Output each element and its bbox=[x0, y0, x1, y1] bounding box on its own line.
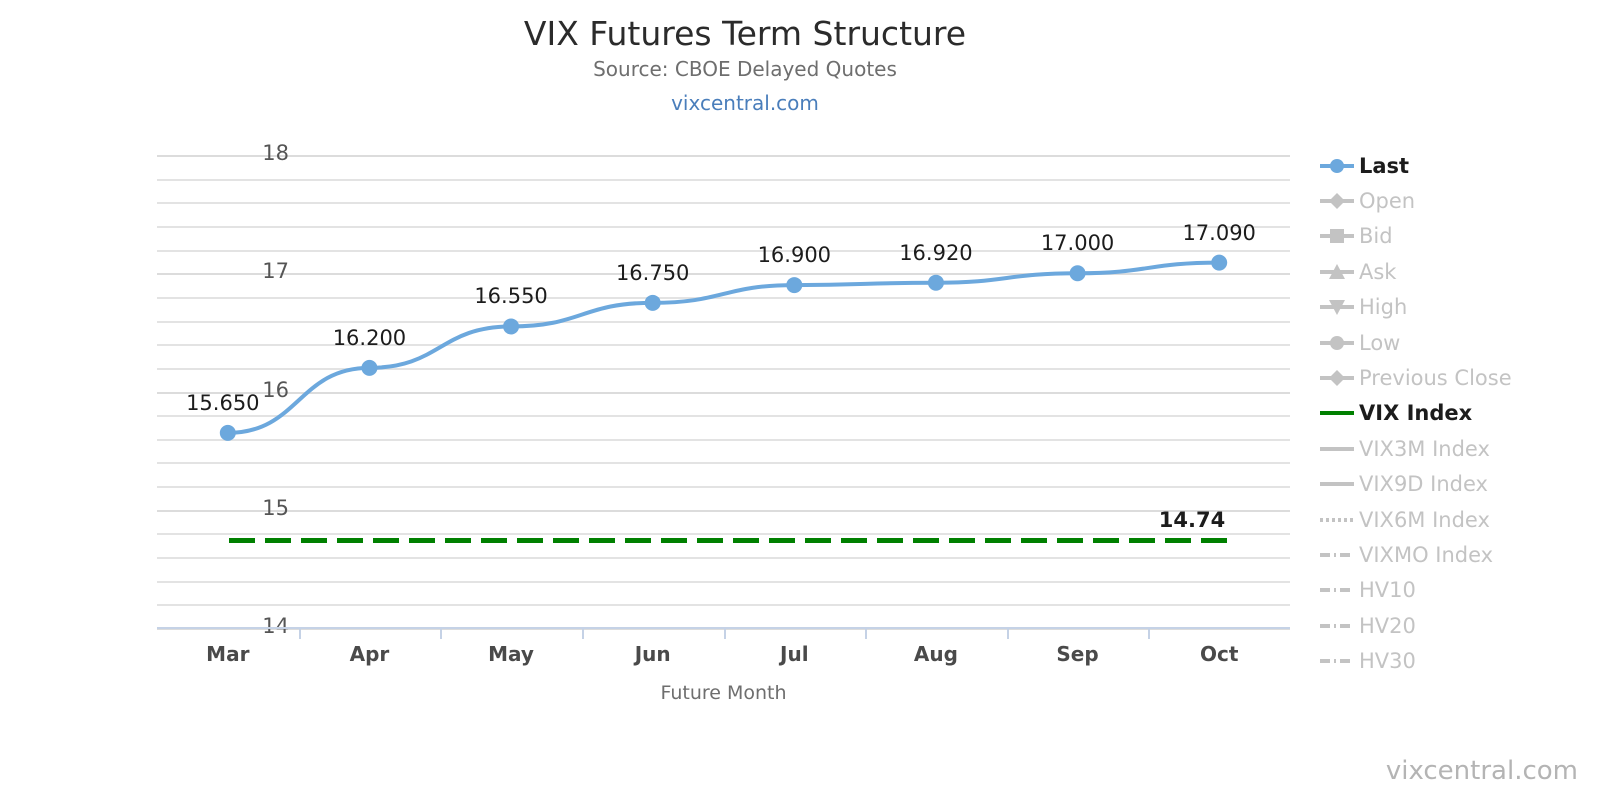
y-axis-tick-label: 15 bbox=[229, 496, 289, 520]
gridline-minor bbox=[157, 297, 1290, 299]
x-axis-tick-label: Jun bbox=[578, 642, 728, 666]
legend-item-hv20[interactable]: HV20 bbox=[1318, 608, 1600, 643]
x-axis-tick-label: Apr bbox=[294, 642, 444, 666]
legend-item-label: Previous Close bbox=[1359, 366, 1512, 390]
x-axis-tick bbox=[724, 628, 726, 639]
legend-item-vix-index[interactable]: VIX Index bbox=[1318, 396, 1600, 431]
chart-subtitle: Source: CBOE Delayed Quotes bbox=[0, 56, 1490, 82]
x-axis-tick bbox=[865, 628, 867, 639]
diamond-marker-line-icon bbox=[1318, 189, 1356, 213]
data-point-label: 16.750 bbox=[573, 261, 733, 285]
legend-item-label: Low bbox=[1359, 331, 1400, 355]
solid-line-icon bbox=[1318, 437, 1356, 461]
gridline-major bbox=[157, 392, 1290, 394]
gridline-minor bbox=[157, 533, 1290, 535]
legend-item-label: High bbox=[1359, 295, 1407, 319]
chart-header: VIX Futures Term Structure Source: CBOE … bbox=[0, 0, 1490, 116]
y-axis-tick-label: 17 bbox=[229, 259, 289, 283]
page-title: VIX Futures Term Structure bbox=[0, 14, 1490, 54]
dash-dot-line-icon bbox=[1318, 614, 1356, 638]
legend-item-last[interactable]: Last bbox=[1318, 148, 1600, 183]
legend-item-label: VIXMO Index bbox=[1359, 543, 1493, 567]
dash-dot-line-icon bbox=[1318, 578, 1356, 602]
legend-item-label: VIX6M Index bbox=[1359, 508, 1490, 532]
legend-item-label: HV10 bbox=[1359, 578, 1416, 602]
y-axis-tick-label: 14 bbox=[229, 614, 289, 638]
data-point-label: 17.090 bbox=[1139, 221, 1299, 245]
legend-item-label: Bid bbox=[1359, 224, 1393, 248]
legend-item-vix6m-index[interactable]: VIX6M Index bbox=[1318, 502, 1600, 537]
gridline-minor bbox=[157, 462, 1290, 464]
data-point-label: 16.550 bbox=[431, 284, 591, 308]
x-axis-tick-label: Oct bbox=[1144, 642, 1294, 666]
legend-item-high[interactable]: High bbox=[1318, 290, 1600, 325]
gridline-minor bbox=[157, 321, 1290, 323]
data-point-label: 16.920 bbox=[856, 241, 1016, 265]
vix-index-value-label: 14.74 bbox=[1112, 508, 1272, 532]
triangle-down-marker-line-icon bbox=[1318, 295, 1356, 319]
legend: LastOpenBidAskHighLowPrevious CloseVIX I… bbox=[1318, 148, 1600, 679]
triangle-up-marker-line-icon bbox=[1318, 260, 1356, 284]
gridline-minor bbox=[157, 604, 1290, 606]
legend-item-previous-close[interactable]: Previous Close bbox=[1318, 360, 1600, 395]
gridline-minor bbox=[157, 202, 1290, 204]
gridline-major bbox=[157, 155, 1290, 157]
square-marker-line-icon bbox=[1318, 224, 1356, 248]
x-axis-tick bbox=[582, 628, 584, 639]
gridline-minor bbox=[157, 179, 1290, 181]
legend-item-open[interactable]: Open bbox=[1318, 183, 1600, 218]
dash-dot-line-icon bbox=[1318, 543, 1356, 567]
circle-marker-line-icon bbox=[1318, 331, 1356, 355]
legend-item-label: VIX3M Index bbox=[1359, 437, 1490, 461]
gridline-minor bbox=[157, 439, 1290, 441]
x-axis-tick bbox=[440, 628, 442, 639]
x-axis-tick bbox=[299, 628, 301, 639]
y-axis-tick-label: 18 bbox=[229, 141, 289, 165]
data-point-label: 17.000 bbox=[998, 231, 1158, 255]
data-point-label: 16.200 bbox=[289, 326, 449, 350]
gridline-minor bbox=[157, 581, 1290, 583]
legend-item-label: VIX9D Index bbox=[1359, 472, 1488, 496]
gridline-minor bbox=[157, 486, 1290, 488]
legend-item-low[interactable]: Low bbox=[1318, 325, 1600, 360]
x-axis-tick-label: Aug bbox=[861, 642, 1011, 666]
x-axis-tick-label: Sep bbox=[1003, 642, 1153, 666]
legend-item-label: Last bbox=[1359, 154, 1409, 178]
legend-item-label: Ask bbox=[1359, 260, 1396, 284]
x-axis-tick bbox=[1148, 628, 1150, 639]
gridline-minor bbox=[157, 557, 1290, 559]
plot-area bbox=[157, 155, 1290, 628]
legend-item-vix3m-index[interactable]: VIX3M Index bbox=[1318, 431, 1600, 466]
solid-line-icon bbox=[1318, 401, 1356, 425]
data-point-label: 15.650 bbox=[143, 391, 303, 415]
x-axis-tick bbox=[1007, 628, 1009, 639]
legend-item-bid[interactable]: Bid bbox=[1318, 219, 1600, 254]
diamond-marker-line-icon bbox=[1318, 366, 1356, 390]
dotted-line-icon bbox=[1318, 508, 1356, 532]
legend-item-label: HV20 bbox=[1359, 614, 1416, 638]
source-link[interactable]: vixcentral.com bbox=[671, 90, 819, 116]
x-axis-title: Future Month bbox=[157, 682, 1290, 704]
x-axis-tick-label: May bbox=[436, 642, 586, 666]
legend-item-ask[interactable]: Ask bbox=[1318, 254, 1600, 289]
gridline-minor bbox=[157, 415, 1290, 417]
legend-item-vix9d-index[interactable]: VIX9D Index bbox=[1318, 467, 1600, 502]
gridline-minor bbox=[157, 226, 1290, 228]
dash-dot-line-icon bbox=[1318, 649, 1356, 673]
data-point-label: 16.900 bbox=[714, 243, 874, 267]
x-axis-tick-label: Jul bbox=[719, 642, 869, 666]
legend-item-label: VIX Index bbox=[1359, 401, 1472, 425]
legend-item-label: Open bbox=[1359, 189, 1415, 213]
solid-line-icon bbox=[1318, 472, 1356, 496]
legend-item-label: HV30 bbox=[1359, 649, 1416, 673]
gridline-minor bbox=[157, 368, 1290, 370]
legend-item-hv10[interactable]: HV10 bbox=[1318, 573, 1600, 608]
legend-item-hv30[interactable]: HV30 bbox=[1318, 643, 1600, 678]
circle-marker-line-icon bbox=[1318, 154, 1356, 178]
x-axis-tick-label: Mar bbox=[153, 642, 303, 666]
legend-item-vixmo-index[interactable]: VIXMO Index bbox=[1318, 537, 1600, 572]
watermark: vixcentral.com bbox=[1386, 756, 1578, 786]
